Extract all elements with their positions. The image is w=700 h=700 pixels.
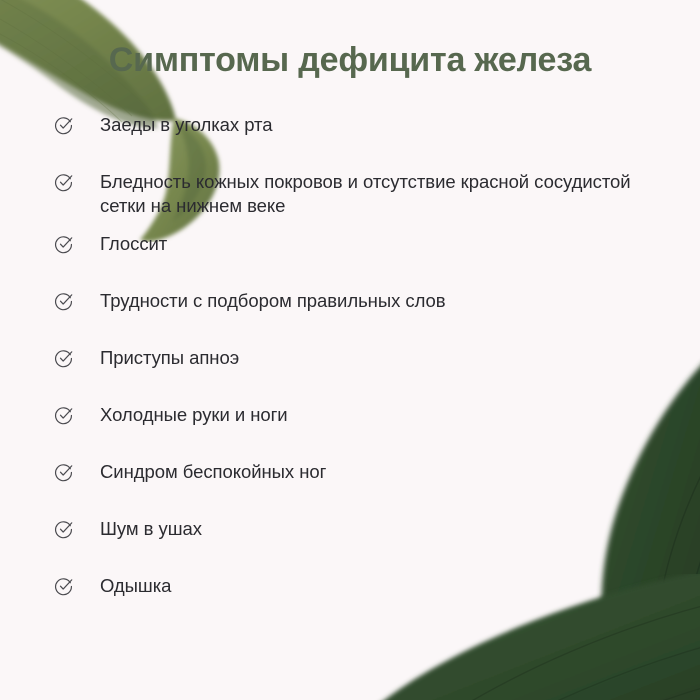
list-item: Одышка (54, 574, 656, 631)
check-circle-icon (54, 463, 73, 482)
check-circle-icon (54, 349, 73, 368)
check-circle-icon (54, 235, 73, 254)
list-item-label: Глоссит (100, 232, 167, 257)
list-item: Холодные руки и ноги (54, 403, 656, 460)
check-circle-icon (54, 577, 73, 596)
list-item: Заеды в уголках рта (54, 113, 656, 170)
list-item-label: Приступы апноэ (100, 346, 239, 371)
list-item-label: Трудности с подбором правильных слов (100, 289, 446, 314)
check-circle-icon (54, 520, 73, 539)
list-item: Трудности с подбором правильных слов (54, 289, 656, 346)
list-item-label: Бледность кожных покровов и отсутствие к… (100, 170, 656, 219)
check-circle-icon (54, 116, 73, 135)
list-item-label: Шум в ушах (100, 517, 202, 542)
page-title: Симптомы дефицита железа (92, 38, 608, 83)
symptom-list: Заеды в уголках рта Бледность кожных пок… (0, 113, 700, 631)
list-item-label: Одышка (100, 574, 171, 599)
list-item-label: Заеды в уголках рта (100, 113, 272, 138)
list-item: Приступы апноэ (54, 346, 656, 403)
list-item-label: Холодные руки и ноги (100, 403, 288, 428)
list-item: Глоссит (54, 232, 656, 289)
list-item-label: Синдром беспокойных ног (100, 460, 326, 485)
list-item: Шум в ушах (54, 517, 656, 574)
check-circle-icon (54, 406, 73, 425)
check-circle-icon (54, 292, 73, 311)
list-item: Бледность кожных покровов и отсутствие к… (54, 170, 656, 232)
list-item: Синдром беспокойных ног (54, 460, 656, 517)
check-circle-icon (54, 173, 73, 192)
